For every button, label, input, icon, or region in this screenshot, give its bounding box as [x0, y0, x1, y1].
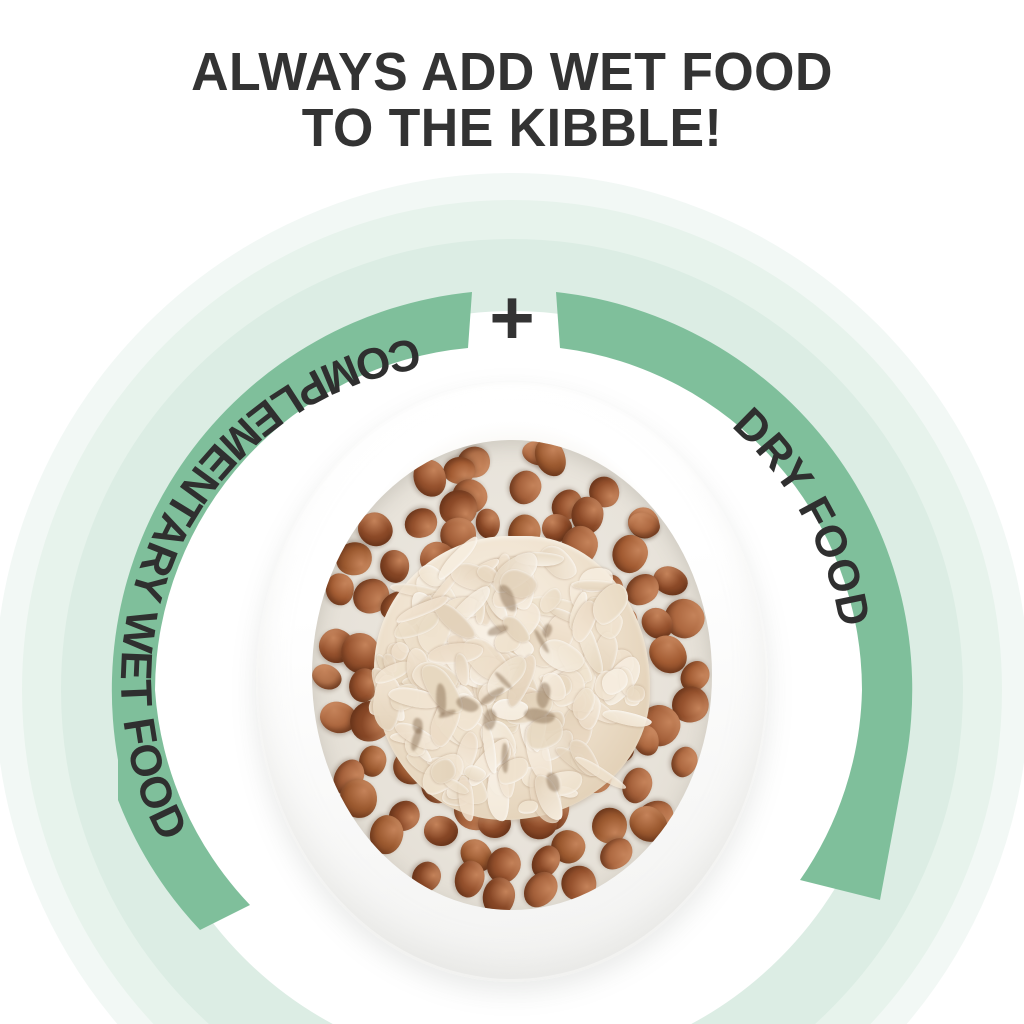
bowl-interior	[312, 440, 712, 910]
pet-food-bowl	[256, 382, 768, 982]
headline-line-2: TO THE KIBBLE!	[20, 100, 1003, 156]
plus-symbol: +	[489, 273, 535, 361]
page-title: ALWAYS ADD WET FOOD TO THE KIBBLE!	[20, 44, 1003, 156]
plus-icon: +	[489, 273, 535, 361]
wet-food-mound	[312, 440, 712, 910]
headline-line-1: ALWAYS ADD WET FOOD	[191, 42, 833, 102]
